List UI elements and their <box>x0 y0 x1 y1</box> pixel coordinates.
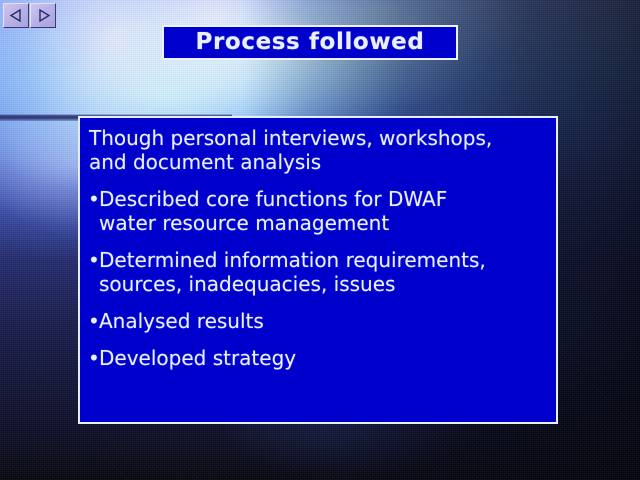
previous-slide-button[interactable] <box>3 3 29 28</box>
list-item-text: Analysed results <box>99 309 546 333</box>
next-slide-button[interactable] <box>30 3 56 28</box>
list-item-text: Developed strategy <box>99 346 546 370</box>
slide-content-box: Though personal interviews, workshops, a… <box>78 116 558 424</box>
triangle-left-icon <box>9 8 24 23</box>
bullet-icon: • <box>88 187 99 211</box>
list-item-text: Though personal interviews, workshops, a… <box>89 126 546 174</box>
page-title: Process followed <box>196 31 425 54</box>
list-item: • Developed strategy <box>88 346 546 370</box>
list-item: • Analysed results <box>88 309 546 333</box>
slide-navigation <box>3 3 56 28</box>
triangle-right-icon <box>36 8 51 23</box>
bullet-icon: • <box>88 346 99 370</box>
slide-title-box: Process followed <box>162 25 458 60</box>
presentation-slide: Process followed Though personal intervi… <box>0 0 640 480</box>
list-item: • Described core functions for DWAF wate… <box>88 187 546 235</box>
list-item: • Determined information requirements, s… <box>88 248 546 296</box>
bullet-icon: • <box>88 309 99 333</box>
list-item-text: Described core functions for DWAF water … <box>99 187 546 235</box>
bullet-icon: • <box>88 248 99 272</box>
list-item: Though personal interviews, workshops, a… <box>88 126 546 174</box>
list-item-text: Determined information requirements, sou… <box>99 248 546 296</box>
